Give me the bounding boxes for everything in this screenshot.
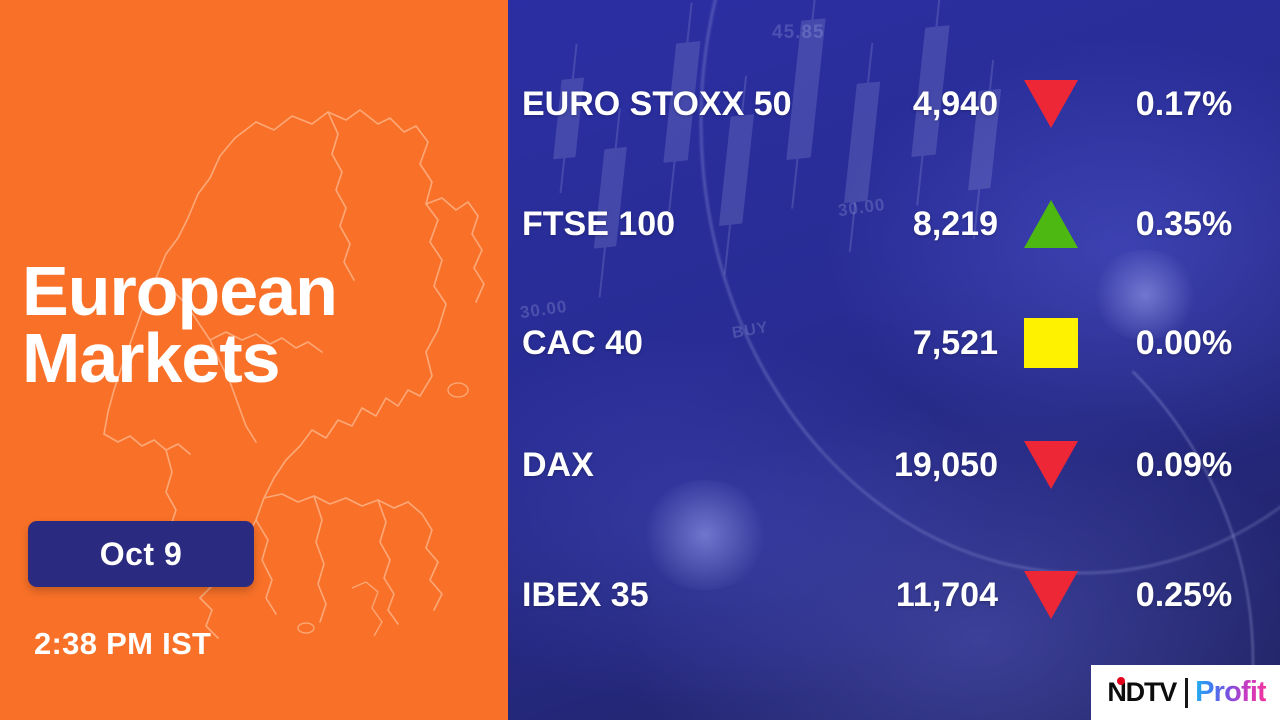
title-line-1: European: [22, 258, 492, 325]
index-change: 0.17%: [1100, 85, 1268, 124]
square-flat-icon: [1024, 318, 1078, 368]
direction-indicator: [1020, 198, 1082, 250]
page-title: European Markets: [22, 258, 492, 392]
index-name: EURO STOXX 50: [522, 85, 792, 124]
index-value: 8,219: [808, 205, 998, 244]
table-row: DAX 19,050 0.09%: [508, 435, 1280, 495]
index-name: FTSE 100: [522, 205, 675, 244]
index-value: 4,940: [808, 85, 998, 124]
market-table: EURO STOXX 50 4,940 0.17% FTSE 100 8,219…: [508, 0, 1280, 720]
profit-wordmark: Profit: [1195, 676, 1266, 709]
title-line-2: Markets: [22, 325, 492, 392]
timestamp-label: 2:38 PM IST: [34, 626, 211, 662]
index-change: 0.09%: [1100, 446, 1268, 485]
market-graphic: 45.85 30.00 30.00 BUY: [0, 0, 1280, 720]
arrow-down-icon: [1024, 80, 1078, 128]
index-change: 0.25%: [1100, 576, 1268, 615]
direction-indicator: [1020, 78, 1082, 130]
index-name: IBEX 35: [522, 576, 649, 615]
orange-title-panel: European Markets Oct 9 2:38 PM IST: [0, 0, 508, 720]
arrow-down-icon: [1024, 441, 1078, 489]
direction-indicator: [1020, 317, 1082, 369]
date-badge-label: Oct 9: [100, 536, 183, 573]
index-change: 0.35%: [1100, 205, 1268, 244]
direction-indicator: [1020, 439, 1082, 491]
arrow-down-icon: [1024, 571, 1078, 619]
table-row: FTSE 100 8,219 0.35%: [508, 194, 1280, 254]
index-name: CAC 40: [522, 324, 643, 363]
arrow-up-icon: [1024, 200, 1078, 248]
date-badge: Oct 9: [28, 521, 254, 587]
logo-divider: [1185, 678, 1188, 708]
index-name: DAX: [522, 446, 594, 485]
index-value: 11,704: [808, 576, 998, 615]
ndtv-profit-logo: NDTV Profit: [1091, 665, 1280, 720]
table-row: CAC 40 7,521 0.00%: [508, 313, 1280, 373]
direction-indicator: [1020, 569, 1082, 621]
index-value: 7,521: [808, 324, 998, 363]
table-row: IBEX 35 11,704 0.25%: [508, 565, 1280, 625]
index-change: 0.00%: [1100, 324, 1268, 363]
table-row: EURO STOXX 50 4,940 0.17%: [508, 74, 1280, 134]
index-value: 19,050: [808, 446, 998, 485]
